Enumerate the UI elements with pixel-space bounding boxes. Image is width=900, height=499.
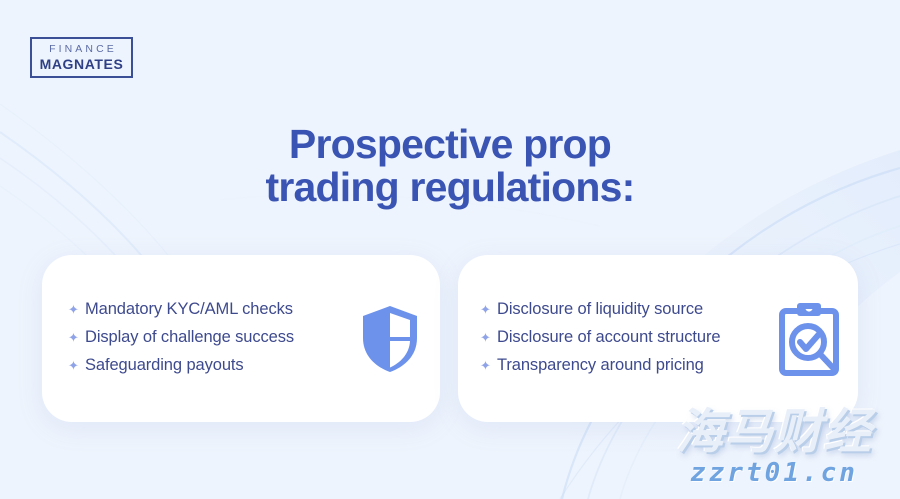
regulations-card-left[interactable]: ✦ Mandatory KYC/AML checks ✦ Display of … <box>42 255 440 422</box>
logo-line-magnates: MAGNATES <box>40 56 124 72</box>
list-item-label: Disclosure of account structure <box>497 325 720 350</box>
list-item-label: Safeguarding payouts <box>85 353 244 378</box>
list-item-label: Mandatory KYC/AML checks <box>85 297 293 322</box>
background-swirl-decoration <box>0 0 900 499</box>
clipboard-search-icon <box>770 299 848 379</box>
bullet-list-right: ✦ Disclosure of liquidity source ✦ Discl… <box>480 297 770 381</box>
slide-canvas: FINANCE MAGNATES Prospective prop tradin… <box>0 0 900 499</box>
list-item: ✦ Safeguarding payouts <box>68 353 354 378</box>
list-item: ✦ Display of challenge success <box>68 325 354 350</box>
list-item-label: Display of challenge success <box>85 325 294 350</box>
sparkle-bullet-icon: ✦ <box>480 297 497 322</box>
list-item: ✦ Mandatory KYC/AML checks <box>68 297 354 322</box>
logo-line-finance: FINANCE <box>46 43 117 56</box>
regulations-card-right[interactable]: ✦ Disclosure of liquidity source ✦ Discl… <box>458 255 858 422</box>
page-title: Prospective prop trading regulations: <box>0 123 900 209</box>
sparkle-bullet-icon: ✦ <box>480 353 497 378</box>
list-item-label: Transparency around pricing <box>497 353 704 378</box>
bullet-list-left: ✦ Mandatory KYC/AML checks ✦ Display of … <box>68 297 354 381</box>
sparkle-bullet-icon: ✦ <box>68 353 85 378</box>
list-item: ✦ Disclosure of liquidity source <box>480 297 770 322</box>
list-item: ✦ Transparency around pricing <box>480 353 770 378</box>
list-item: ✦ Disclosure of account structure <box>480 325 770 350</box>
shield-icon <box>354 299 426 379</box>
sparkle-bullet-icon: ✦ <box>68 325 85 350</box>
page-title-line-1: Prospective prop <box>0 123 900 166</box>
page-title-line-2: trading regulations: <box>0 166 900 209</box>
sparkle-bullet-icon: ✦ <box>480 325 497 350</box>
watermark-url-text: zzrt01.cn <box>648 458 900 488</box>
list-item-label: Disclosure of liquidity source <box>497 297 703 322</box>
sparkle-bullet-icon: ✦ <box>68 297 85 322</box>
finance-magnates-logo[interactable]: FINANCE MAGNATES <box>30 37 133 78</box>
